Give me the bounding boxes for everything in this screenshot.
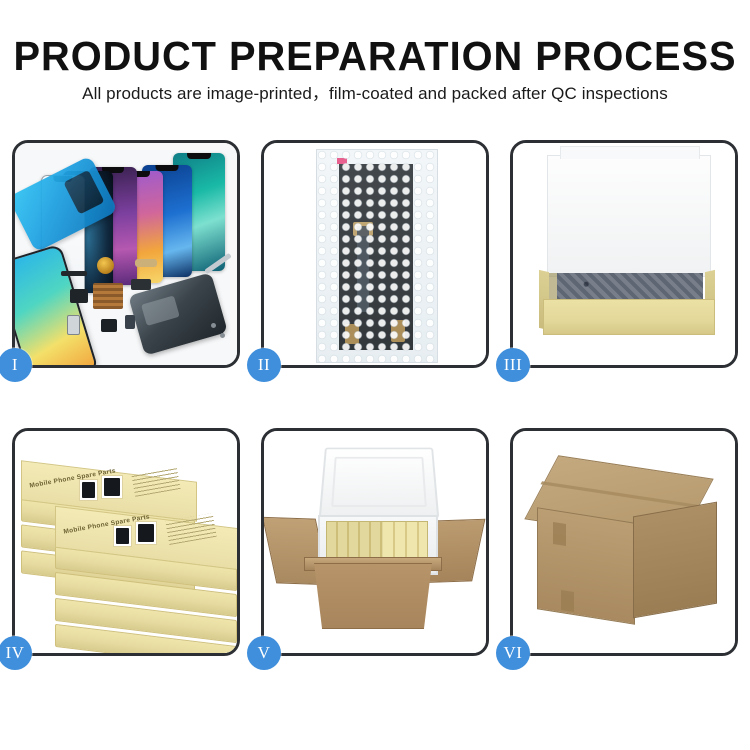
step-badge-5: V [247,636,281,670]
step-panel-5[interactable]: V [261,428,489,656]
carton-side-face [633,502,717,619]
part-flex-cable-gold [135,259,157,267]
part-button [125,315,135,329]
page-header: PRODUCT PREPARATION PROCESS All products… [0,0,750,105]
inner-box-lid [547,155,711,277]
page-subtitle: All products are image-printed，film-coat… [0,83,750,105]
step-3-image [513,143,735,365]
part-screw [220,333,225,338]
part-camera-module [70,289,88,303]
step-badge-6: VI [496,636,530,670]
step-badge-4: IV [0,636,32,670]
foam-box-lid [319,448,440,519]
process-row-bottom: Mobile Phone Spare Parts Mobile Phone Sp… [0,428,750,656]
step-panel-3[interactable]: III [510,140,738,368]
box-inner-edge [549,273,557,301]
page-title: PRODUCT PREPARATION PROCESS [11,34,739,78]
process-grid: I II [0,140,750,656]
part-screw [211,323,216,328]
part-flex-cable-dark [131,279,151,290]
step-1-image [15,143,237,365]
part-wireless-coil [97,257,114,274]
step-badge-3: III [496,348,530,382]
kraft-box-front [543,299,715,335]
step-6-image [513,431,735,653]
retail-box-stack: Mobile Phone Spare Parts Mobile Phone Sp… [21,453,237,643]
part-copper-pad [93,283,123,309]
step-5-image [264,431,486,653]
part-antenna-strip [61,271,87,276]
step-panel-2[interactable]: II [261,140,489,368]
carton-tape-mark [561,590,574,612]
box-artwork-thumb [113,525,132,547]
notch-icon [156,165,179,171]
step-badge-2: II [247,348,281,382]
box-artwork-thumb [101,475,123,499]
process-row-top: I II [0,140,750,368]
box-artwork-thumb [135,521,157,545]
step-2-image [264,143,486,365]
bubble-texture [317,150,437,362]
part-sim-tray [67,315,80,335]
carton-front-face [537,507,635,625]
carton-tape-mark [553,522,566,546]
step-panel-4[interactable]: Mobile Phone Spare Parts Mobile Phone Sp… [12,428,240,656]
carton-front [306,563,440,629]
step-panel-6[interactable]: VI [510,428,738,656]
bubble-wrap-bag [316,149,438,363]
step-4-image: Mobile Phone Spare Parts Mobile Phone Sp… [15,431,237,653]
part-speaker [101,319,117,332]
protective-foam [557,273,703,301]
notch-icon [187,153,211,159]
step-badge-1: I [0,348,32,382]
box-artwork-thumb [79,479,98,501]
step-panel-1[interactable]: I [12,140,240,368]
